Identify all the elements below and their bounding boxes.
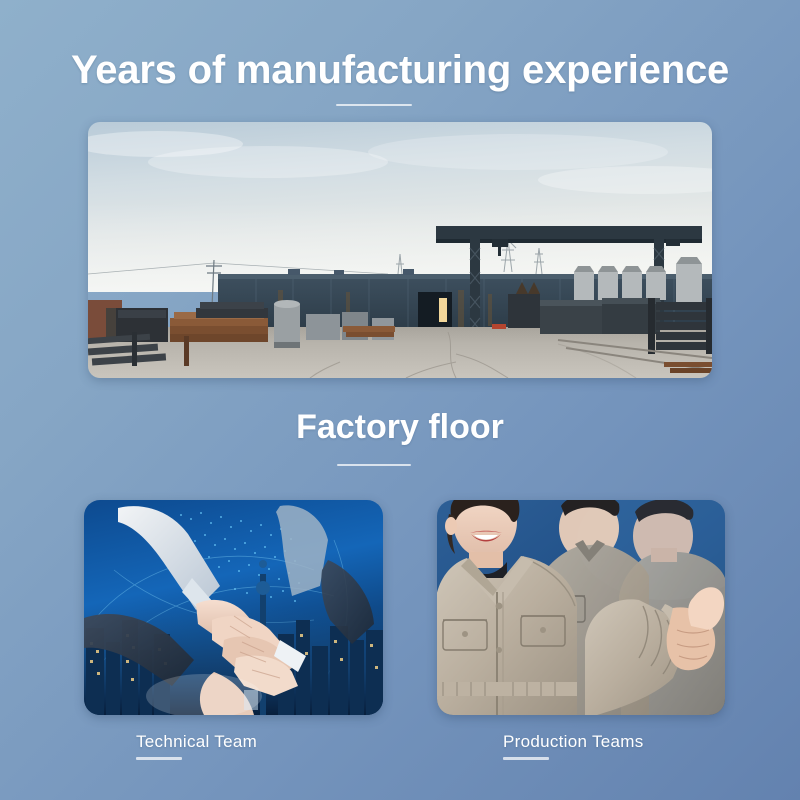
production-teams-caption-underline xyxy=(503,757,549,760)
production-teams-caption: Production Teams xyxy=(503,732,644,752)
factory-yard-photo xyxy=(88,122,712,378)
page-title: Years of manufacturing experience xyxy=(0,48,800,93)
title-underline-divider xyxy=(336,104,412,106)
section-title: Factory floor xyxy=(0,408,800,447)
teamwork-hands-city-illustration xyxy=(84,500,383,715)
technical-team-photo-card xyxy=(84,500,383,715)
section-title-underline-divider xyxy=(337,464,411,466)
production-workers-illustration xyxy=(437,500,725,715)
technical-team-caption: Technical Team xyxy=(136,732,257,752)
technical-team-caption-underline xyxy=(136,757,182,760)
production-teams-photo-card xyxy=(437,500,725,715)
factory-yard-illustration xyxy=(88,122,712,378)
